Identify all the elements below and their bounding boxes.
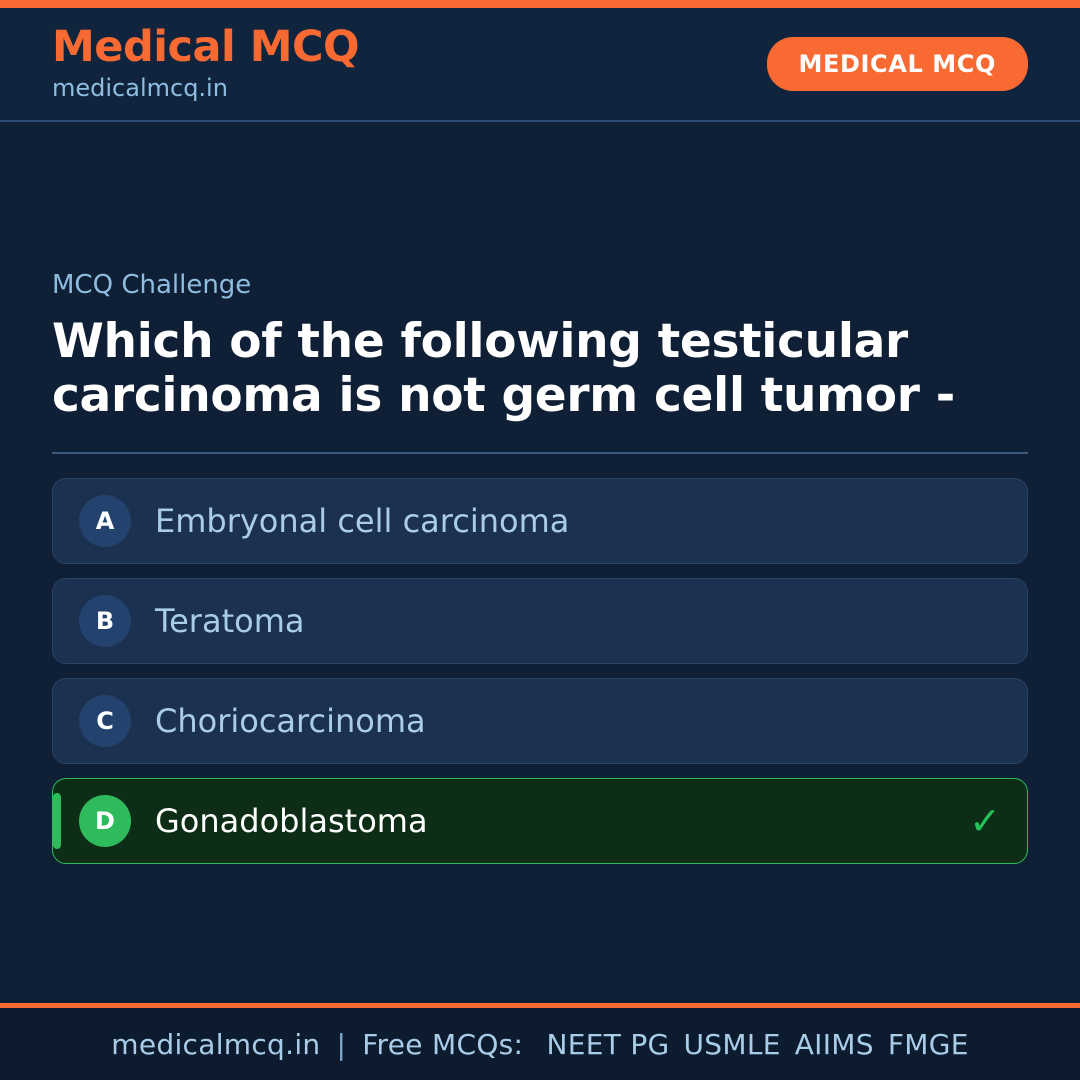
question-text: Which of the following testicular carcin… <box>52 315 1012 422</box>
exam-tag: NEET PG <box>546 1028 669 1061</box>
exam-tag: FMGE <box>888 1028 969 1061</box>
option-label: Embryonal cell carcinoma <box>155 502 969 540</box>
options-list: A Embryonal cell carcinoma ✓ B Teratoma … <box>52 478 1028 864</box>
footer-exam-tags: NEET PGUSMLEAIIMSFMGE <box>523 1028 968 1061</box>
exam-tag: AIIMS <box>795 1028 874 1061</box>
divider <box>52 452 1028 454</box>
mcq-card: Medical MCQ medicalmcq.in MEDICAL MCQ MC… <box>0 0 1080 1080</box>
option-letter-badge: C <box>79 695 131 747</box>
footer-text: medicalmcq.in|Free MCQs: NEET PGUSMLEAII… <box>111 1028 968 1061</box>
footer-prefix: Free MCQs: <box>362 1028 523 1061</box>
exam-tag: USMLE <box>684 1028 781 1061</box>
brand-title: Medical MCQ <box>52 25 359 70</box>
footer-separator: | <box>320 1028 362 1061</box>
brand-subtitle: medicalmcq.in <box>52 73 359 103</box>
option-label: Choriocarcinoma <box>155 702 969 740</box>
footer-site: medicalmcq.in <box>111 1028 320 1061</box>
option-c[interactable]: C Choriocarcinoma ✓ <box>52 678 1028 764</box>
option-a[interactable]: A Embryonal cell carcinoma ✓ <box>52 478 1028 564</box>
option-letter-badge: D <box>79 795 131 847</box>
top-accent-bar <box>0 0 1080 8</box>
option-b[interactable]: B Teratoma ✓ <box>52 578 1028 664</box>
option-d[interactable]: D Gonadoblastoma ✓ <box>52 778 1028 864</box>
header-badge: MEDICAL MCQ <box>767 37 1028 91</box>
option-letter-badge: A <box>79 495 131 547</box>
option-label: Teratoma <box>155 602 969 640</box>
header: Medical MCQ medicalmcq.in MEDICAL MCQ <box>0 8 1080 122</box>
kicker-label: MCQ Challenge <box>52 270 1028 301</box>
footer: medicalmcq.in|Free MCQs: NEET PGUSMLEAII… <box>0 1003 1080 1080</box>
check-icon: ✓ <box>969 802 1001 840</box>
main-content: MCQ Challenge Which of the following tes… <box>0 122 1080 1003</box>
option-label: Gonadoblastoma <box>155 802 969 840</box>
brand-block: Medical MCQ medicalmcq.in <box>52 25 359 103</box>
option-letter-badge: B <box>79 595 131 647</box>
correct-accent-bar <box>53 793 61 849</box>
